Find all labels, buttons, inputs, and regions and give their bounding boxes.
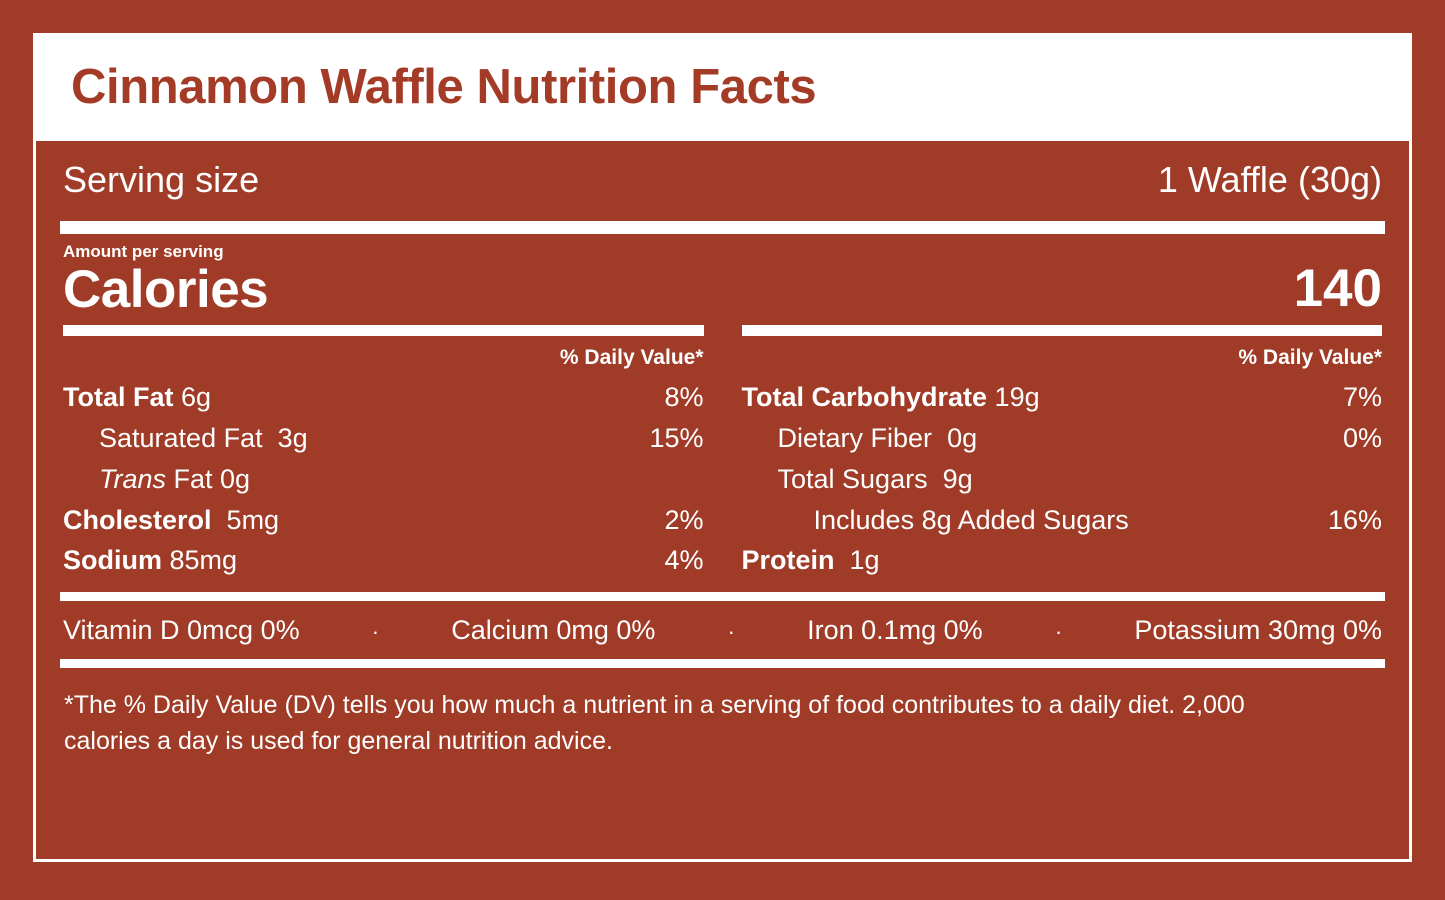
rule-under-calories-left [63,325,704,336]
nutrient-name: Saturated Fat [99,423,263,453]
daily-value-header-left: % Daily Value* [63,336,704,377]
vitamin-separator-dot: · [983,619,1135,645]
nutrient-name: Includes 8g Added Sugars [814,505,1129,535]
rule-under-calories-right [742,325,1383,336]
nutrient-row: Includes 8g Added Sugars 16% [742,500,1383,541]
nutrient-name: Cholesterol [63,505,212,535]
rule-under-serving-size [60,221,1385,234]
vitamin-separator-dot: · [300,619,452,645]
nutrient-amount: 0g [947,423,977,453]
serving-size-value: 1 Waffle (30g) [1158,159,1382,201]
nutrient-row: Total Fat 6g 8% [63,377,704,418]
nutrient-column-left: % Daily Value* Total Fat 6g 8% Saturated… [63,336,704,582]
nutrient-daily-value: 4% [664,544,703,577]
nutrient-row: Total Sugars 9g [742,459,1383,500]
nutrient-amount: 85mg [170,545,238,575]
vitamin-item-iron: Iron 0.1mg 0% [807,615,983,646]
nutrient-daily-value: 7% [1343,381,1382,414]
nutrient-column-right: % Daily Value* Total Carbohydrate 19g 7%… [742,336,1383,582]
page-title: Cinnamon Waffle Nutrition Facts [71,63,816,112]
calories-label: Calories [63,263,268,317]
nutrient-name: Total Sugars [778,464,928,494]
nutrient-row: Sodium 85mg 4% [63,540,704,581]
nutrient-row: Cholesterol 5mg 2% [63,500,704,541]
nutrient-daily-value: 0% [1343,422,1382,455]
nutrient-name: Trans [99,464,166,494]
nutrient-daily-value: 16% [1328,504,1382,537]
nutrient-amount: Fat 0g [174,464,251,494]
nutrient-row: Dietary Fiber 0g 0% [742,418,1383,459]
vitamin-item-potassium: Potassium 30mg 0% [1134,615,1382,646]
nutrient-daily-value: 8% [664,381,703,414]
vitamins-row: Vitamin D 0mcg 0% · Calcium 0mg 0% · Iro… [60,601,1385,659]
vitamin-item-vitamin-d: Vitamin D 0mcg 0% [63,615,300,646]
nutrition-facts-label: Cinnamon Waffle Nutrition Facts Serving … [33,33,1412,862]
serving-size-row: Serving size 1 Waffle (30g) [60,141,1385,221]
nutrient-amount: 9g [943,464,973,494]
calories-value: 140 [1294,262,1382,317]
calories-rules-wrap [60,325,1385,336]
nutrient-amount: 3g [278,423,308,453]
nutrient-amount: 6g [181,382,211,412]
title-band: Cinnamon Waffle Nutrition Facts [33,33,1412,141]
daily-value-footnote: *The % Daily Value (DV) tells you how mu… [60,668,1323,759]
nutrient-name: Total Carbohydrate [742,382,988,412]
nutrient-row: Total Carbohydrate 19g 7% [742,377,1383,418]
nutrient-amount: 5mg [227,505,280,535]
nutrient-row: Saturated Fat 3g 15% [63,418,704,459]
nutrient-row: Trans Fat 0g [63,459,704,500]
calories-row: Amount per serving Calories 140 [60,234,1385,325]
rule-below-vitamins [60,659,1385,668]
vitamin-separator-dot: · [655,619,807,645]
nutrient-amount: 1g [850,545,880,575]
daily-value-header-right: % Daily Value* [742,336,1383,377]
amount-per-serving-label: Amount per serving [63,243,268,262]
nutrient-name: Sodium [63,545,162,575]
nutrient-columns: % Daily Value* Total Fat 6g 8% Saturated… [60,336,1385,582]
vitamin-item-calcium: Calcium 0mg 0% [451,615,655,646]
nutrient-row: Protein 1g [742,540,1383,581]
nutrient-name: Total Fat [63,382,174,412]
nutrient-amount: 19g [995,382,1040,412]
nutrition-body-panel: Serving size 1 Waffle (30g) Amount per s… [33,141,1412,862]
nutrient-name: Dietary Fiber [778,423,933,453]
nutrient-daily-value: 2% [664,504,703,537]
nutrient-name: Protein [742,545,835,575]
nutrient-daily-value: 15% [649,422,703,455]
serving-size-label: Serving size [63,159,259,201]
rule-above-vitamins [60,592,1385,601]
